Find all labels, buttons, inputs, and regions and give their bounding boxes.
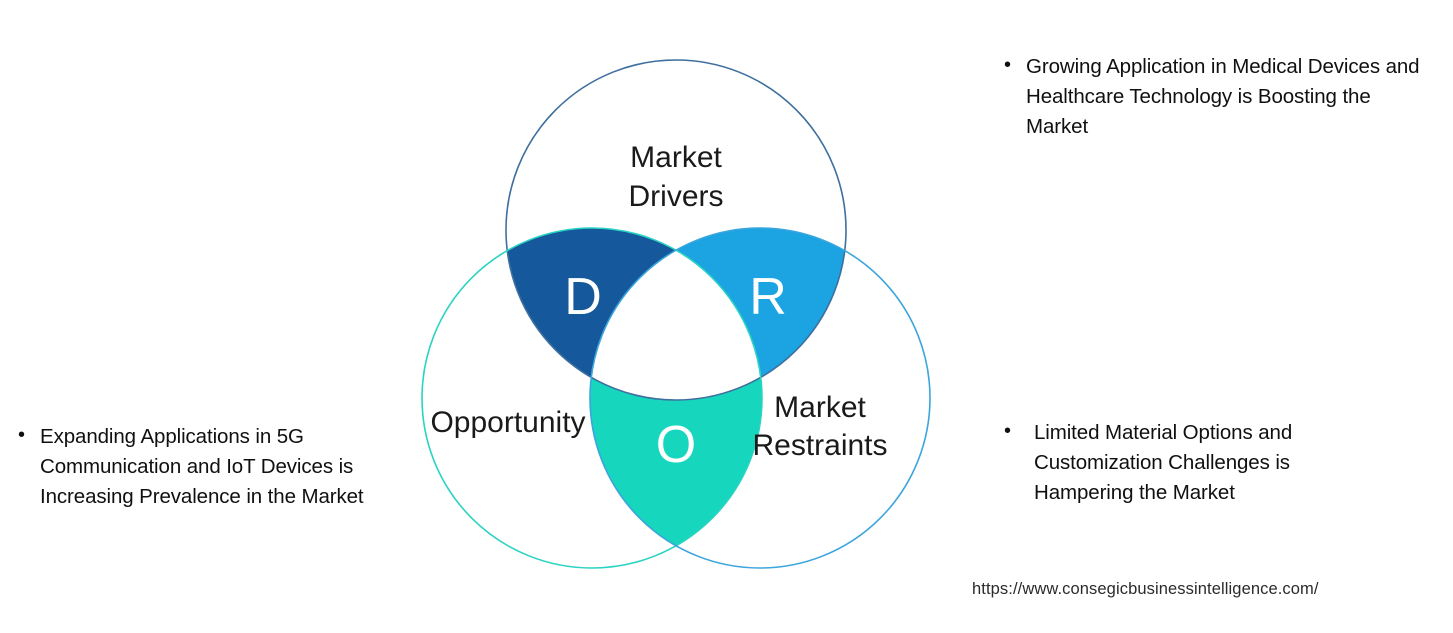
callout-opportunity-text: Expanding Applications in 5G Communicati… [40,422,398,512]
label-opportunity: Opportunity [430,406,585,439]
label-restraints-line1: Market [774,391,866,424]
label-drivers-line1: Market [630,141,722,174]
venn-diagram-page: Market Drivers Opportunity Market Restra… [0,0,1453,633]
source-url[interactable]: https://www.consegicbusinessintelligence… [972,578,1319,600]
lens-letter-d: D [564,268,602,326]
callout-market-restraints-text: Limited Material Options and Customizati… [1034,418,1384,508]
lens-letter-r: R [749,268,787,326]
venn-diagram: Market Drivers Opportunity Market Restra… [380,50,980,585]
lens-letter-o: O [656,416,696,474]
label-restraints-line2: Restraints [752,429,887,462]
bullet-icon: • [18,422,40,448]
venn-svg: Market Drivers Opportunity Market Restra… [380,50,980,585]
bullet-icon: • [1004,52,1026,78]
callout-market-restraints: • Limited Material Options and Customiza… [1004,418,1384,508]
callout-market-drivers-text: Growing Application in Medical Devices a… [1026,52,1434,142]
label-drivers-line2: Drivers [629,180,724,213]
callout-opportunity: • Expanding Applications in 5G Communica… [18,422,398,512]
bullet-icon: • [1004,418,1034,444]
callout-market-drivers: • Growing Application in Medical Devices… [1004,52,1434,142]
